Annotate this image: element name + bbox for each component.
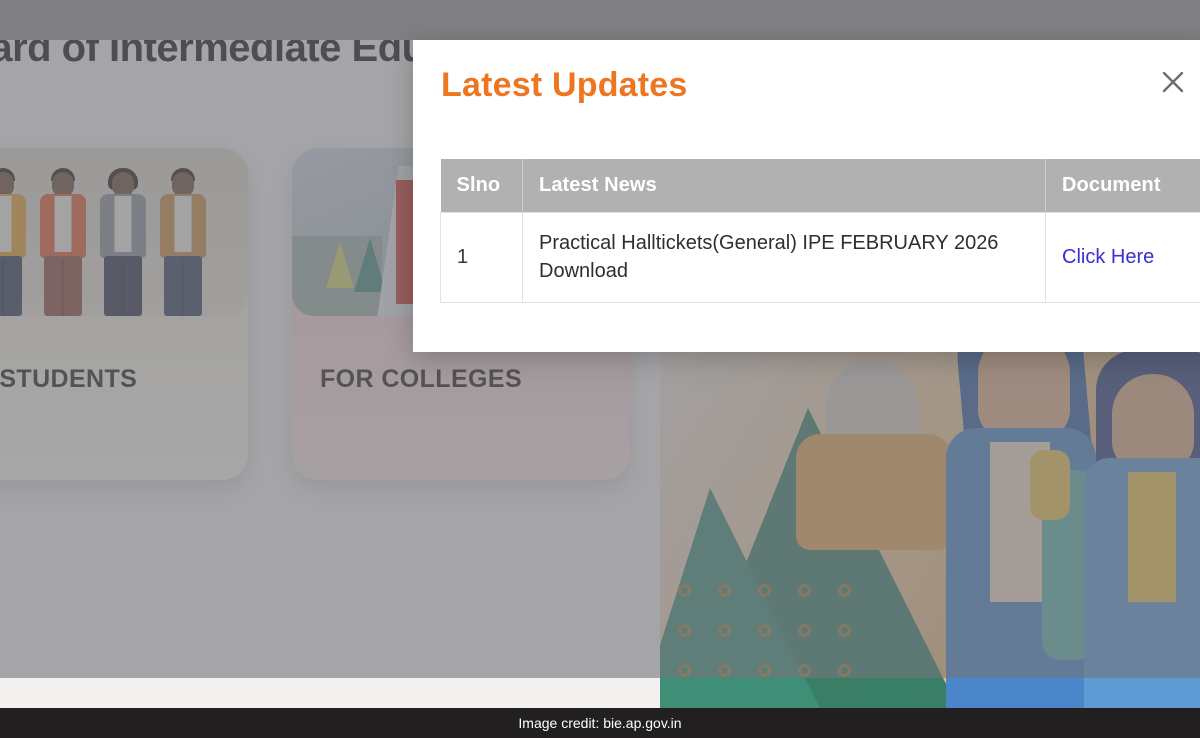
card-for-students[interactable]: FOR STUDENTS	[0, 148, 248, 480]
top-gray-strip	[0, 0, 1200, 40]
cell-slno: 1	[441, 213, 523, 303]
column-header-document: Document	[1046, 159, 1200, 213]
latest-news-table: Slno Latest News Document 1 Practical Ha…	[440, 159, 1200, 303]
image-credit-bar: Image credit: bie.ap.gov.in	[0, 708, 1200, 738]
modal-title: Latest Updates	[441, 66, 688, 105]
column-header-latest-news: Latest News	[523, 159, 1046, 213]
table-body: 1 Practical Halltickets(General) IPE FEB…	[441, 213, 1200, 303]
click-here-link[interactable]: Click Here	[1062, 246, 1154, 268]
table-header: Slno Latest News Document	[441, 159, 1200, 213]
close-button[interactable]	[1151, 60, 1195, 104]
card-label-colleges: FOR COLLEGES	[320, 365, 522, 394]
latest-updates-modal: Latest Updates Slno Latest News Document	[413, 40, 1200, 352]
hero-illustration	[660, 330, 1200, 708]
students-illustration-icon	[0, 148, 248, 316]
table-row: 1 Practical Halltickets(General) IPE FEB…	[441, 213, 1200, 303]
table-header-row: Slno Latest News Document	[441, 159, 1200, 213]
image-credit-text: Image credit: bie.ap.gov.in	[518, 715, 681, 731]
screenshot-root: Board of Intermediate Education, Andhra …	[0, 0, 1200, 738]
cell-latest-news: Practical Halltickets(General) IPE FEBRU…	[523, 213, 1046, 303]
cell-document: Click Here	[1046, 213, 1200, 303]
column-header-slno: Slno	[441, 159, 523, 213]
close-icon	[1160, 69, 1186, 95]
card-label-students: FOR STUDENTS	[0, 365, 137, 394]
